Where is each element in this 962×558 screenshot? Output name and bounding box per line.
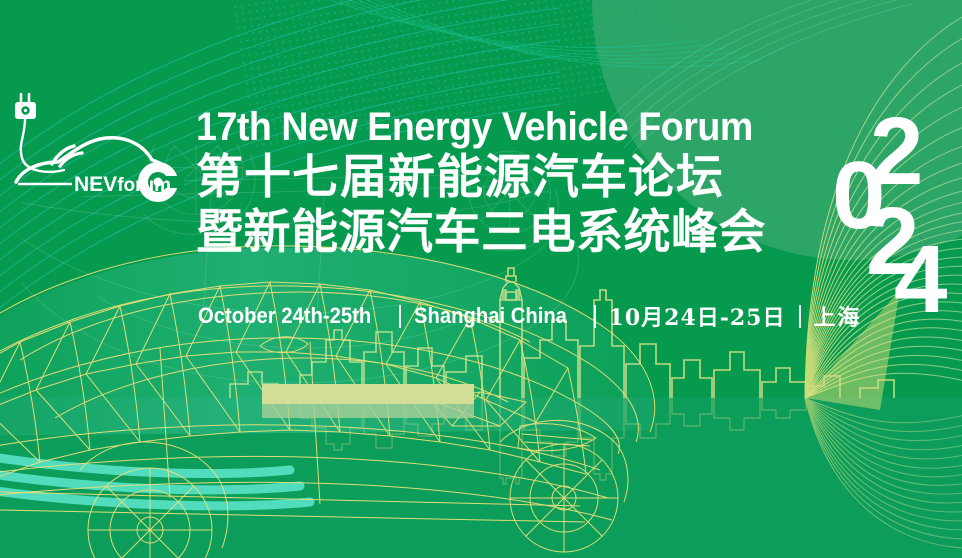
nevforum-logo[interactable]: NEVforum [8, 78, 188, 208]
accent-bar [262, 384, 474, 404]
dateline: October 24th-25th Shanghai China 10月24日-… [198, 300, 862, 332]
year-2024-graphic: 2 0 2 4 [836, 106, 956, 314]
dateline-separator-1 [399, 305, 401, 328]
title-chinese-line1: 第十七届新能源汽车论坛 [196, 150, 846, 205]
dateline-location-en: Shanghai China [414, 303, 567, 329]
logo-wordmark-light: forum [117, 175, 171, 196]
dateline-date-en: October 24th-25th [198, 303, 371, 329]
event-poster: NEVforum 17th New Energy Vehicle Forum 第… [0, 0, 962, 558]
charging-plug-icon [15, 94, 64, 172]
dateline-date-cn: 10月24日-25日 [609, 300, 786, 332]
title-block: 17th New Energy Vehicle Forum 第十七届新能源汽车论… [196, 104, 846, 260]
logo-wordmark: NEVforum [74, 173, 171, 196]
year-digit-4: 4 [894, 226, 947, 314]
dateline-separator-3 [799, 305, 801, 328]
title-chinese-line2: 暨新能源汽车三电系统峰会 [196, 205, 846, 260]
accent-bar-reflection [262, 404, 474, 418]
logo-wordmark-bold: NEV [74, 173, 117, 196]
title-english: 17th New Energy Vehicle Forum [196, 104, 807, 150]
dateline-separator-2 [594, 305, 596, 328]
